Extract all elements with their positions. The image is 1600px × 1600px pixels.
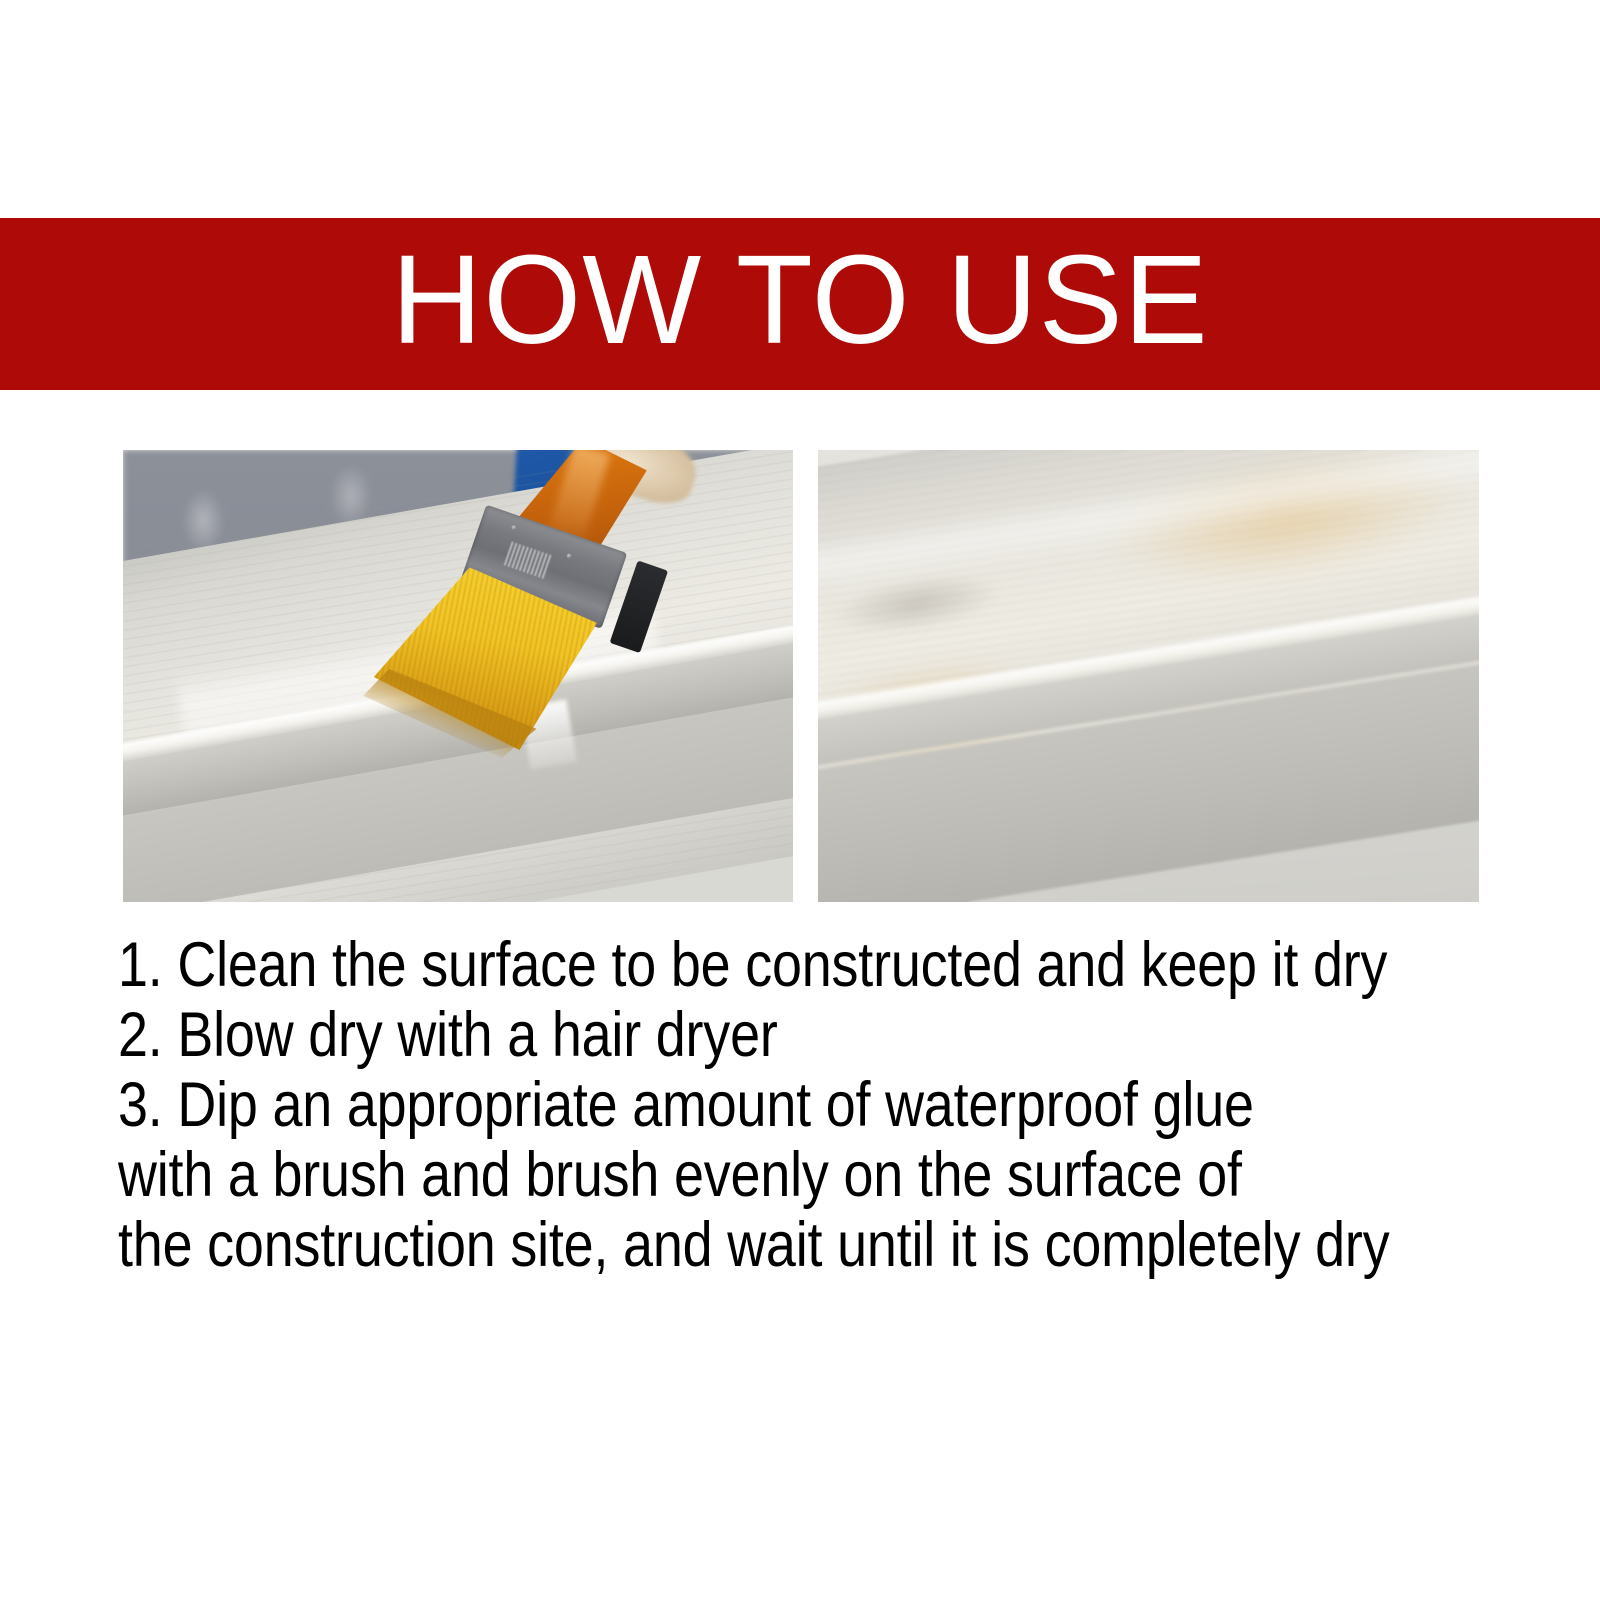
instruction-line: with a brush and brush evenly on the sur… <box>118 1140 1349 1210</box>
instruction-line: the construction site, and wait until it… <box>118 1210 1349 1280</box>
photo-brushing <box>123 450 793 902</box>
instruction-line: 2. Blow dry with a hair dryer <box>118 1000 1349 1070</box>
instruction-list: 1. Clean the surface to be constructed a… <box>118 930 1558 1280</box>
instruction-line: 1. Clean the surface to be constructed a… <box>118 930 1349 1000</box>
page-title: HOW TO USE <box>391 237 1208 363</box>
photo-coated-surface <box>818 450 1479 902</box>
title-banner: HOW TO USE <box>0 218 1600 390</box>
photo-row <box>123 450 1479 902</box>
how-to-use-infographic: HOW TO USE <box>0 0 1600 1600</box>
instruction-line: 3. Dip an appropriate amount of waterpro… <box>118 1070 1349 1140</box>
